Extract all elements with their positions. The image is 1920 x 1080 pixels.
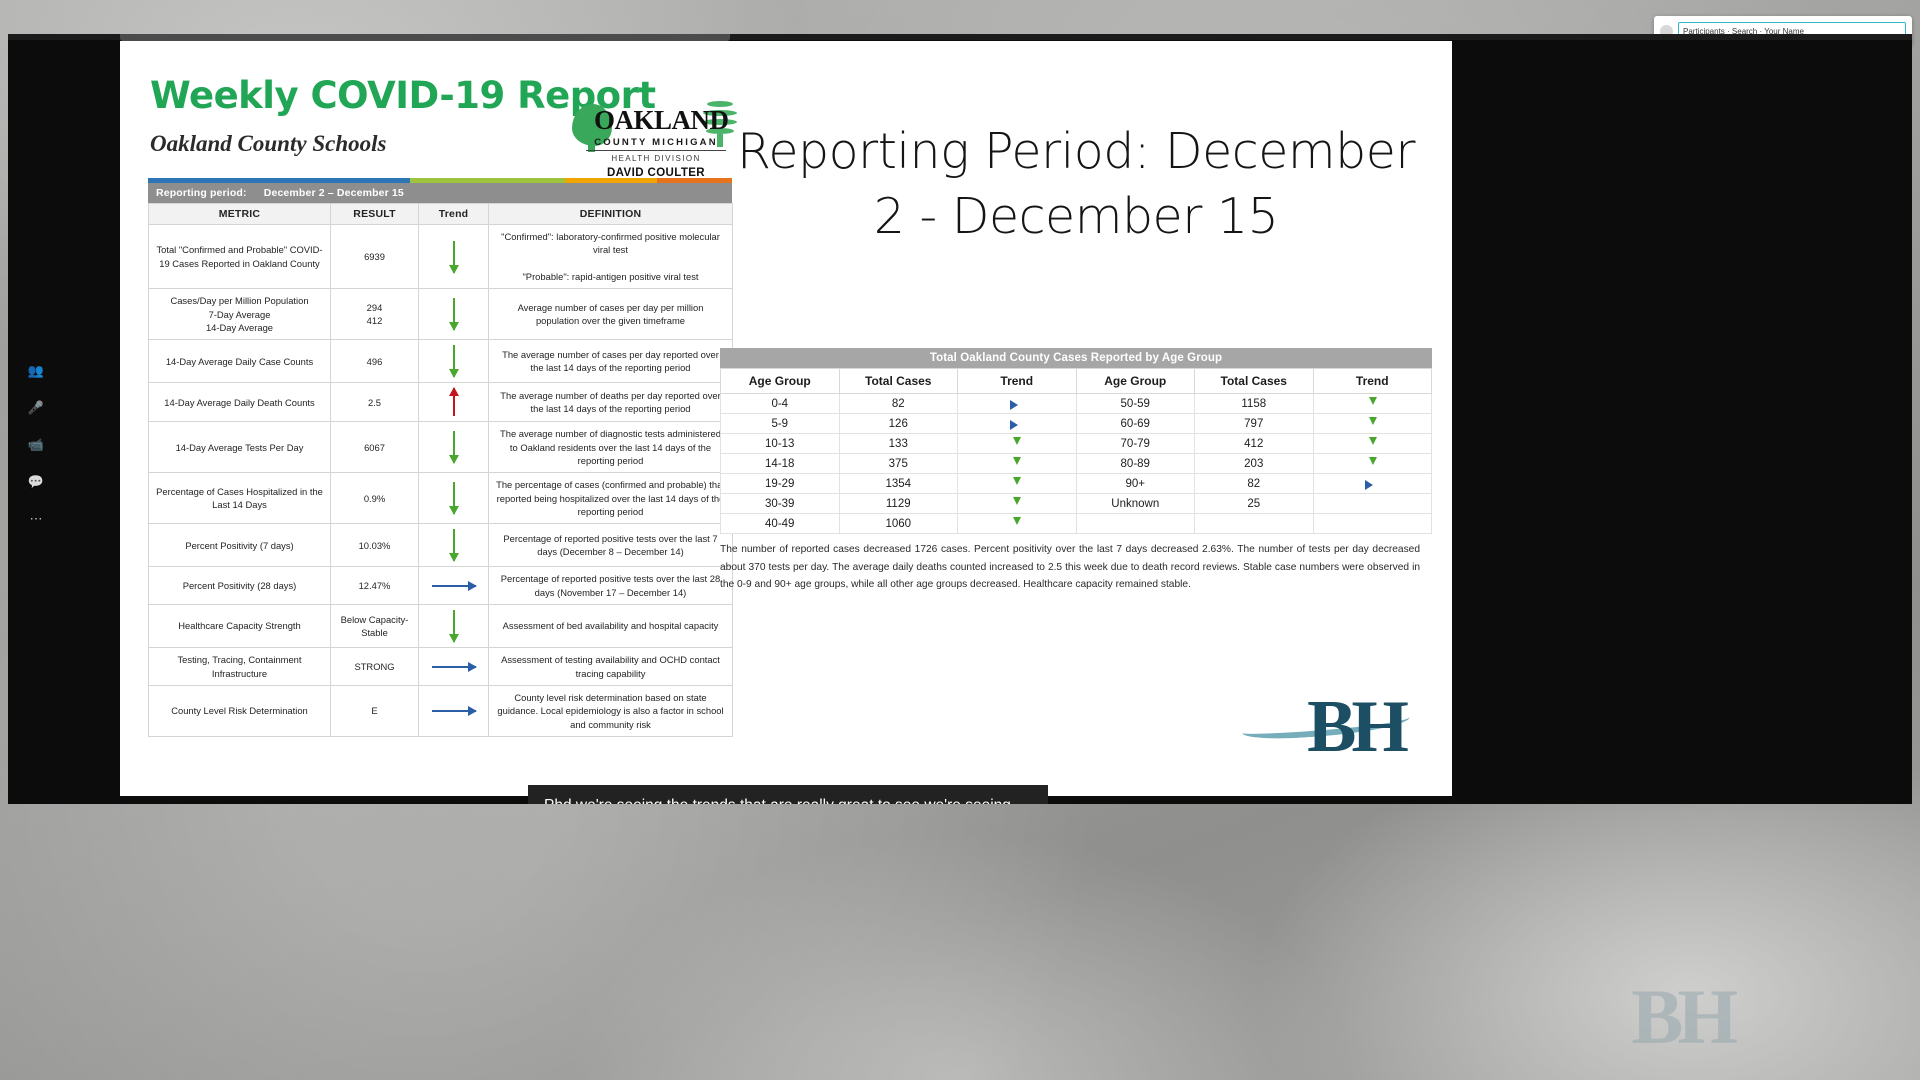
metric-result: 496	[331, 340, 419, 383]
presentation-slide: Weekly COVID-19 Report Oakland County Sc…	[120, 41, 1452, 796]
col-trend-left: Trend	[958, 369, 1077, 394]
metric-trend	[419, 422, 489, 473]
table-row: 30-391129Unknown25	[721, 494, 1432, 514]
table-row: Percentage of Cases Hospitalized in the …	[149, 473, 733, 524]
table-row: Percent Positivity (7 days)10.03%Percent…	[149, 524, 733, 567]
age-group-right	[1076, 514, 1195, 534]
total-cases-right: 412	[1195, 434, 1314, 454]
col-age-group-left: Age Group	[721, 369, 840, 394]
trend-right	[1313, 514, 1432, 534]
metric-name: Healthcare Capacity Strength	[149, 605, 331, 648]
trend-left	[958, 454, 1077, 474]
trend-right	[1313, 394, 1432, 414]
metric-name: Total "Confirmed and Probable" COVID-19 …	[149, 225, 331, 289]
total-cases-right: 25	[1195, 494, 1314, 514]
metric-trend	[419, 685, 489, 736]
live-caption: Phd we're seeing the trends that are rea…	[528, 785, 1048, 804]
metric-trend	[419, 605, 489, 648]
age-group-left: 30-39	[721, 494, 840, 514]
total-cases-right: 203	[1195, 454, 1314, 474]
trend-left	[958, 414, 1077, 434]
metrics-table-wrap: Reporting period: December 2 – December …	[148, 178, 732, 737]
table-row: Total "Confirmed and Probable" COVID-19 …	[149, 225, 733, 289]
age-group-left: 14-18	[721, 454, 840, 474]
metric-trend	[419, 225, 489, 289]
metric-definition: Percentage of reported positive tests ov…	[489, 567, 733, 605]
reporting-period-bar: Reporting period: December 2 – December …	[148, 183, 732, 203]
table-row: 5-912660-69797	[721, 414, 1432, 434]
col-age-group-right: Age Group	[1076, 369, 1195, 394]
trend-arrow-down	[453, 529, 455, 561]
metric-definition: Assessment of testing availability and O…	[489, 648, 733, 686]
metric-name: Cases/Day per Million Population7-Day Av…	[149, 289, 331, 340]
reporting-period-label: Reporting period:	[156, 187, 247, 199]
table-header-row: METRIC RESULT Trend DEFINITION	[149, 204, 733, 225]
age-summary-text: The number of reported cases decreased 1…	[720, 541, 1420, 594]
total-cases-right: 797	[1195, 414, 1314, 434]
total-cases-left: 375	[839, 454, 958, 474]
table-row: Percent Positivity (28 days)12.47%Percen…	[149, 567, 733, 605]
reporting-period-heading: Reporting Period: December 2 - December …	[720, 119, 1432, 249]
metric-trend	[419, 524, 489, 567]
trend-arrow-flat	[432, 585, 476, 587]
metric-trend	[419, 648, 489, 686]
metric-name: Percentage of Cases Hospitalized in the …	[149, 473, 331, 524]
age-group-right: 60-69	[1076, 414, 1195, 434]
metric-definition: Average number of cases per day per mill…	[489, 289, 733, 340]
col-trend-right: Trend	[1313, 369, 1432, 394]
col-metric: METRIC	[149, 204, 331, 225]
metric-result: STRONG	[331, 648, 419, 686]
col-total-cases-right: Total Cases	[1195, 369, 1314, 394]
metric-definition: Percentage of reported positive tests ov…	[489, 524, 733, 567]
age-group-right: Unknown	[1076, 494, 1195, 514]
age-group-right: 90+	[1076, 474, 1195, 494]
age-table-header-row: Age Group Total Cases Trend Age Group To…	[721, 369, 1432, 394]
metrics-table: METRIC RESULT Trend DEFINITION Total "Co…	[148, 203, 733, 737]
trend-left	[958, 494, 1077, 514]
col-result: RESULT	[331, 204, 419, 225]
table-row: 10-1313370-79412	[721, 434, 1432, 454]
metric-definition: The average number of deaths per day rep…	[489, 383, 733, 422]
table-row: 14-Day Average Tests Per Day6067The aver…	[149, 422, 733, 473]
total-cases-left: 1354	[839, 474, 958, 494]
metric-result: 294412	[331, 289, 419, 340]
total-cases-left: 133	[839, 434, 958, 454]
chat-icon[interactable]: 💬	[28, 475, 44, 488]
metric-definition: The average number of cases per day repo…	[489, 340, 733, 383]
metric-definition: The percentage of cases (confirmed and p…	[489, 473, 733, 524]
metric-definition: Assessment of bed availability and hospi…	[489, 605, 733, 648]
trend-arrow-down	[453, 345, 455, 377]
trend-arrow-down	[453, 482, 455, 514]
trend-right	[1313, 494, 1432, 514]
total-cases-left: 1129	[839, 494, 958, 514]
share-tab-indicator	[120, 34, 730, 41]
table-row: 14-1837580-89203	[721, 454, 1432, 474]
logo-division: HEALTH DIVISION	[586, 154, 726, 163]
table-row: Cases/Day per Million Population7-Day Av…	[149, 289, 733, 340]
table-row: Testing, Tracing, Containment Infrastruc…	[149, 648, 733, 686]
meeting-left-rail: 👥 🎤 📹 💬 ⋯	[22, 364, 50, 525]
metric-name: Percent Positivity (7 days)	[149, 524, 331, 567]
table-row: Healthcare Capacity StrengthBelow Capaci…	[149, 605, 733, 648]
trend-right	[1313, 454, 1432, 474]
trend-arrow-down	[453, 431, 455, 463]
metric-name: 14-Day Average Daily Case Counts	[149, 340, 331, 383]
screen-share-window: 👥 🎤 📹 💬 ⋯ Weekly COVID-19 Report Oakland…	[8, 34, 1912, 804]
table-row: 40-491060	[721, 514, 1432, 534]
trend-left	[958, 394, 1077, 414]
trend-arrow-flat	[432, 666, 476, 668]
metric-name: 14-Day Average Daily Death Counts	[149, 383, 331, 422]
metric-result: Below Capacity-Stable	[331, 605, 419, 648]
col-trend: Trend	[419, 204, 489, 225]
metric-result: 2.5	[331, 383, 419, 422]
accent-bar	[148, 178, 732, 183]
col-definition: DEFINITION	[489, 204, 733, 225]
metrics-table-body: Total "Confirmed and Probable" COVID-19 …	[149, 225, 733, 737]
trend-left	[958, 434, 1077, 454]
metric-result: E	[331, 685, 419, 736]
bh-logo: BH	[1307, 690, 1404, 764]
trend-right	[1313, 434, 1432, 454]
age-group-left: 5-9	[721, 414, 840, 434]
age-group-left: 0-4	[721, 394, 840, 414]
age-table-wrap: Total Oakland County Cases Reported by A…	[720, 348, 1432, 534]
metric-definition: County level risk determination based on…	[489, 685, 733, 736]
metric-definition: The average number of diagnostic tests a…	[489, 422, 733, 473]
trend-right	[1313, 474, 1432, 494]
metric-trend	[419, 473, 489, 524]
page-subtitle: Oakland County Schools	[150, 131, 386, 157]
age-table-body: 0-48250-5911585-912660-6979710-1313370-7…	[721, 394, 1432, 534]
age-group-right: 70-79	[1076, 434, 1195, 454]
trend-arrow-flat	[432, 710, 476, 712]
total-cases-left: 82	[839, 394, 958, 414]
table-row: 14-Day Average Daily Case Counts496The a…	[149, 340, 733, 383]
mute-icon[interactable]: 🎤	[28, 401, 44, 414]
total-cases-right	[1195, 514, 1314, 534]
video-icon[interactable]: 📹	[28, 438, 44, 451]
age-group-right: 50-59	[1076, 394, 1195, 414]
age-group-left: 40-49	[721, 514, 840, 534]
table-row: County Level Risk DeterminationECounty l…	[149, 685, 733, 736]
total-cases-right: 1158	[1195, 394, 1314, 414]
metric-trend	[419, 567, 489, 605]
desktop-bh-watermark: BH	[1631, 972, 1732, 1062]
metric-result: 6939	[331, 225, 419, 289]
metric-trend	[419, 289, 489, 340]
total-cases-left: 1060	[839, 514, 958, 534]
table-row: 19-29135490+82	[721, 474, 1432, 494]
metric-result: 10.03%	[331, 524, 419, 567]
trend-right	[1313, 414, 1432, 434]
logo-county: COUNTY MICHIGAN	[586, 137, 726, 151]
metric-result: 12.47%	[331, 567, 419, 605]
trend-arrow-up	[453, 388, 455, 416]
age-group-right: 80-89	[1076, 454, 1195, 474]
trend-left	[958, 514, 1077, 534]
age-group-table: Age Group Total Cases Trend Age Group To…	[720, 368, 1432, 534]
total-cases-right: 82	[1195, 474, 1314, 494]
people-icon[interactable]: 👥	[28, 364, 44, 377]
logo-wordmark: OAKLAND	[594, 107, 719, 134]
reporting-period-value: December 2 – December 15	[264, 187, 404, 199]
age-group-left: 19-29	[721, 474, 840, 494]
col-total-cases-left: Total Cases	[839, 369, 958, 394]
trend-arrow-down	[453, 298, 455, 330]
trend-left	[958, 474, 1077, 494]
total-cases-left: 126	[839, 414, 958, 434]
metric-result: 6067	[331, 422, 419, 473]
metric-name: Percent Positivity (28 days)	[149, 567, 331, 605]
table-row: 0-48250-591158	[721, 394, 1432, 414]
metric-definition: "Confirmed": laboratory-confirmed positi…	[489, 225, 733, 289]
metric-trend	[419, 340, 489, 383]
trend-arrow-down	[453, 610, 455, 642]
metric-name: 14-Day Average Tests Per Day	[149, 422, 331, 473]
trend-arrow-down	[453, 241, 455, 273]
metric-name: Testing, Tracing, Containment Infrastruc…	[149, 648, 331, 686]
metric-trend	[419, 383, 489, 422]
age-group-left: 10-13	[721, 434, 840, 454]
table-row: 14-Day Average Daily Death Counts2.5The …	[149, 383, 733, 422]
more-icon[interactable]: ⋯	[30, 512, 43, 525]
metric-name: County Level Risk Determination	[149, 685, 331, 736]
age-table-caption: Total Oakland County Cases Reported by A…	[720, 348, 1432, 368]
metric-result: 0.9%	[331, 473, 419, 524]
